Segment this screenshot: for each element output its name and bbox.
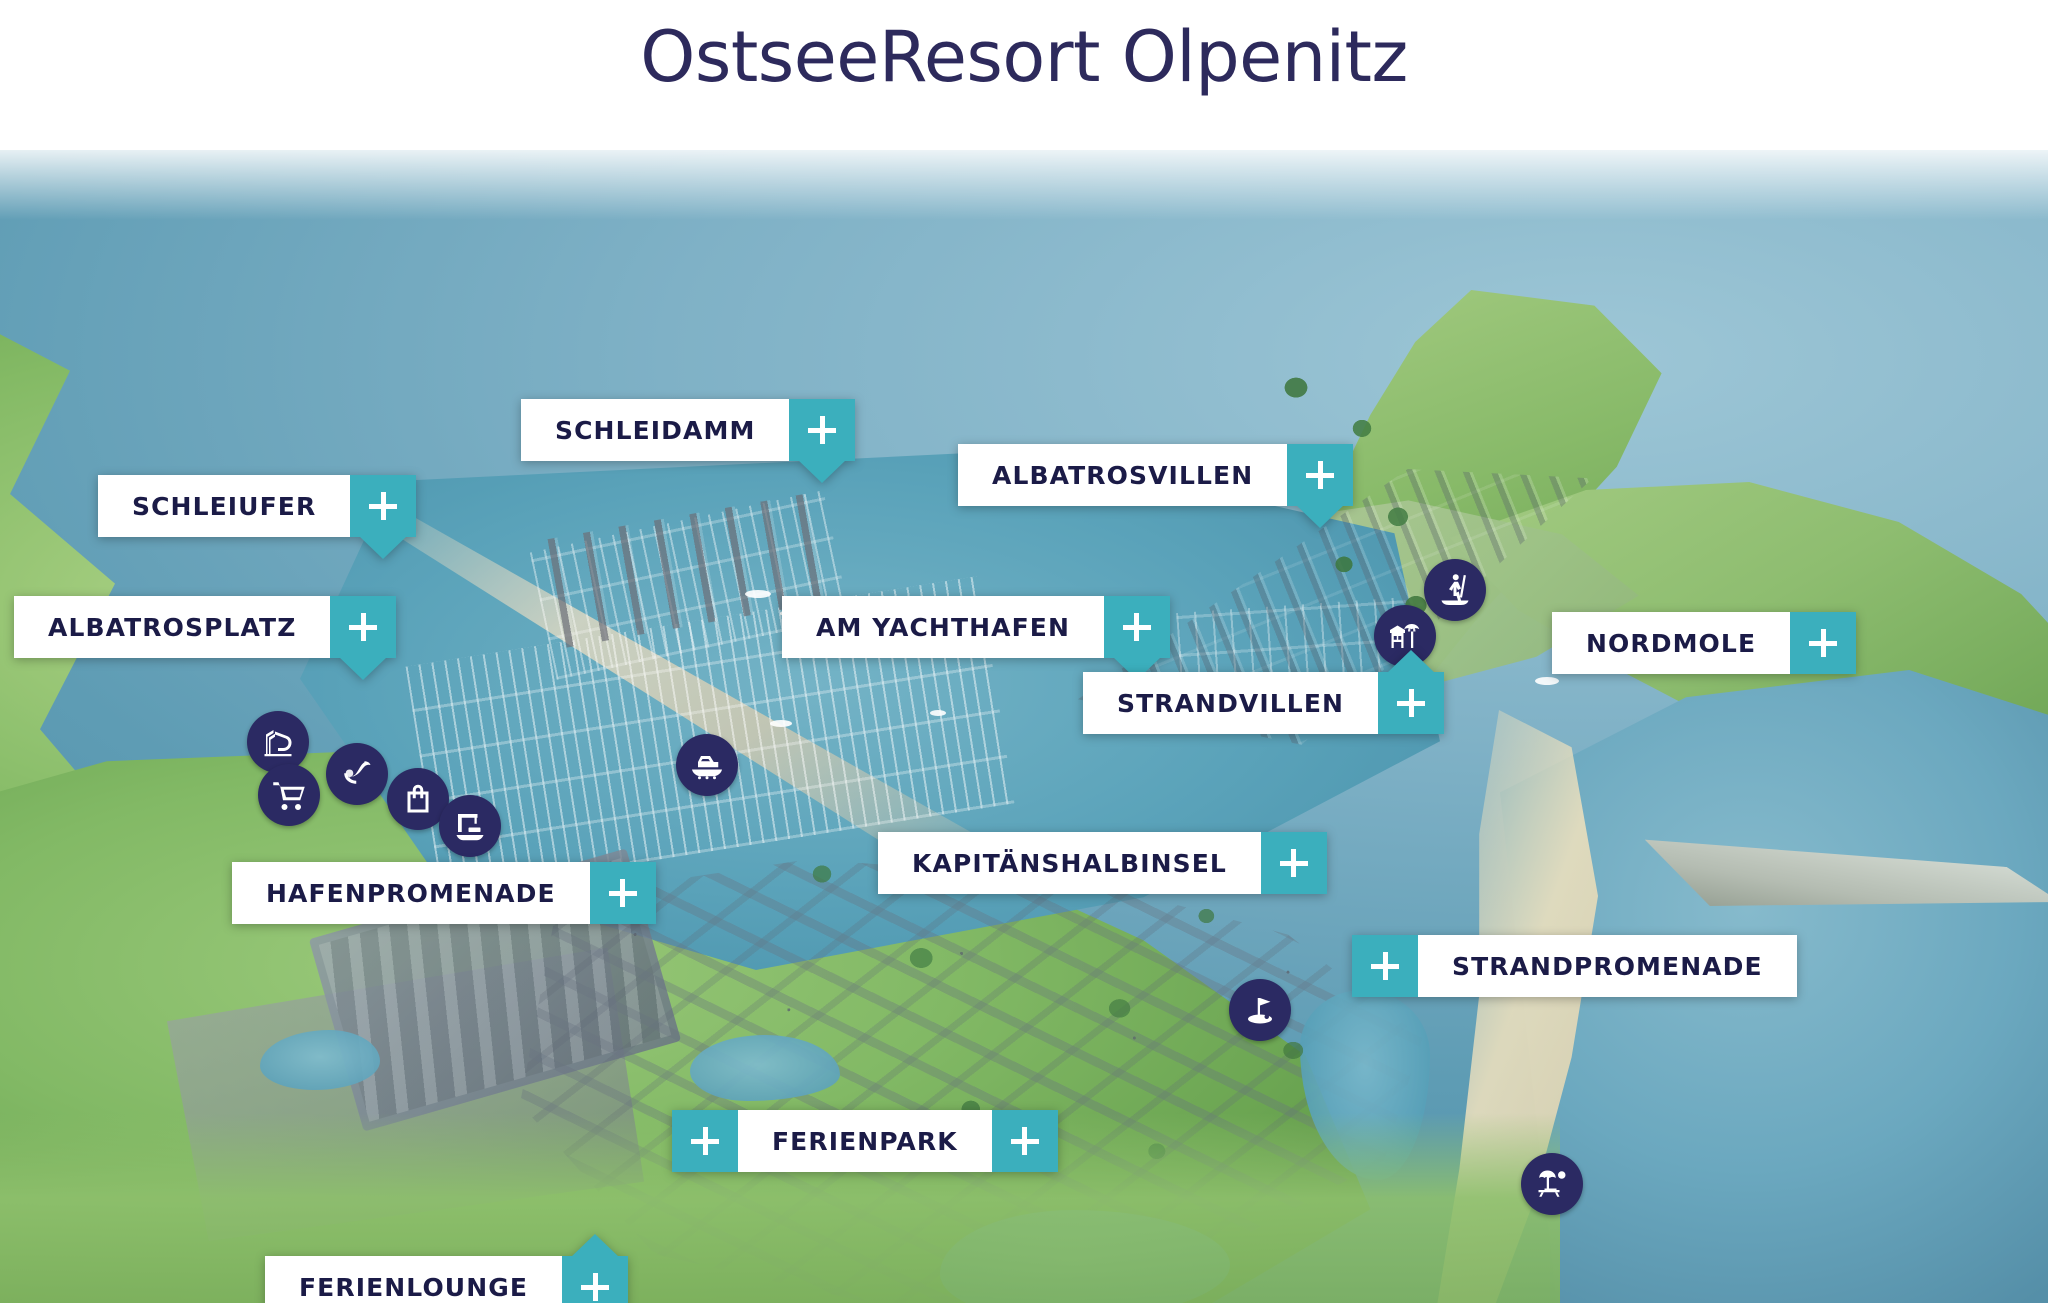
- hotspot-label-am-yachthafen: AM YACHTHAFEN: [782, 596, 1104, 658]
- hotspot-label-strandvillen: STRANDVILLEN: [1083, 672, 1378, 734]
- hotspot-pointer: [797, 459, 847, 483]
- hotspot-strandvillen[interactable]: STRANDVILLEN: [1083, 672, 1444, 734]
- boat: [770, 720, 792, 727]
- hotspot-hafenpromenade[interactable]: HAFENPROMENADE: [232, 862, 656, 924]
- golf-flag-icon[interactable]: [1229, 979, 1291, 1041]
- shopping-cart-icon[interactable]: [258, 764, 320, 826]
- hotspot-label-albatrosvillen: ALBATROSVILLEN: [958, 444, 1287, 506]
- plus-icon-albatrosvillen-right[interactable]: [1287, 444, 1353, 506]
- boat: [745, 590, 771, 598]
- plus-icon-schleidamm-right[interactable]: [789, 399, 855, 461]
- hotspot-ferienlounge[interactable]: FERIENLOUNGE: [265, 1256, 628, 1303]
- hotspot-label-ferienpark: FERIENPARK: [738, 1110, 992, 1172]
- hotspot-label-nordmole: NORDMOLE: [1552, 612, 1790, 674]
- plus-icon-ferienlounge-right[interactable]: [562, 1256, 628, 1303]
- hotspot-schleidamm[interactable]: SCHLEIDAMM: [521, 399, 855, 461]
- hotspot-schleiufer[interactable]: SCHLEIUFER: [98, 475, 416, 537]
- hotspot-label-schleiufer: SCHLEIUFER: [98, 475, 350, 537]
- paddleboard-icon[interactable]: [1424, 559, 1486, 621]
- hotspot-ferienpark[interactable]: FERIENPARK: [672, 1110, 1058, 1172]
- plus-icon-hafenpromenade-right[interactable]: [590, 862, 656, 924]
- boat: [930, 710, 946, 716]
- hotspot-strandpromenade[interactable]: STRANDPROMENADE: [1352, 935, 1797, 997]
- plus-icon-kapitaenshalbinsel-right[interactable]: [1261, 832, 1327, 894]
- plus-icon-strandvillen-right[interactable]: [1378, 672, 1444, 734]
- boat: [1535, 677, 1559, 685]
- hotspot-label-ferienlounge: FERIENLOUNGE: [265, 1256, 562, 1303]
- hotspot-label-schleidamm: SCHLEIDAMM: [521, 399, 789, 461]
- resort-map-page: OstseeResort Olpenitz: [0, 0, 2048, 1303]
- hotspot-am-yachthafen[interactable]: AM YACHTHAFEN: [782, 596, 1170, 658]
- plus-icon-nordmole-right[interactable]: [1790, 612, 1856, 674]
- boat-crane-icon[interactable]: [439, 795, 501, 857]
- hotspot-pointer: [1295, 504, 1345, 528]
- hotspot-kapitaenshalbinsel[interactable]: KAPITÄNSHALBINSEL: [878, 832, 1327, 894]
- hotspot-label-kapitaenshalbinsel: KAPITÄNSHALBINSEL: [878, 832, 1261, 894]
- hotspot-label-hafenpromenade: HAFENPROMENADE: [232, 862, 590, 924]
- hotspot-pointer: [570, 1234, 620, 1258]
- hotspot-label-strandpromenade: STRANDPROMENADE: [1418, 935, 1797, 997]
- plus-icon-ferienpark-right[interactable]: [992, 1110, 1058, 1172]
- horizon-haze: [0, 150, 2048, 220]
- water-slide-icon[interactable]: [247, 711, 309, 773]
- beach-umbrella-icon[interactable]: [1521, 1153, 1583, 1215]
- hotspot-albatrosplatz[interactable]: ALBATROSPLATZ: [14, 596, 396, 658]
- motorboat-icon[interactable]: [676, 734, 738, 796]
- resort-map[interactable]: SCHLEIDAMMALBATROSVILLENSCHLEIUFERALBATR…: [0, 150, 2048, 1303]
- hotspot-pointer: [358, 535, 408, 559]
- diving-figure-icon[interactable]: [326, 743, 388, 805]
- hotspot-pointer: [338, 656, 388, 680]
- hotspot-nordmole[interactable]: NORDMOLE: [1552, 612, 1856, 674]
- hotspot-albatrosvillen[interactable]: ALBATROSVILLEN: [958, 444, 1353, 506]
- hotspot-label-albatrosplatz: ALBATROSPLATZ: [14, 596, 330, 658]
- plus-icon-schleiufer-right[interactable]: [350, 475, 416, 537]
- page-title: OstseeResort Olpenitz: [0, 14, 2048, 102]
- plus-icon-am-yachthafen-right[interactable]: [1104, 596, 1170, 658]
- plus-icon-strandpromenade-left[interactable]: [1352, 935, 1418, 997]
- plus-icon-ferienpark-left[interactable]: [672, 1110, 738, 1172]
- hotspot-pointer: [1386, 650, 1436, 674]
- plus-icon-albatrosplatz-right[interactable]: [330, 596, 396, 658]
